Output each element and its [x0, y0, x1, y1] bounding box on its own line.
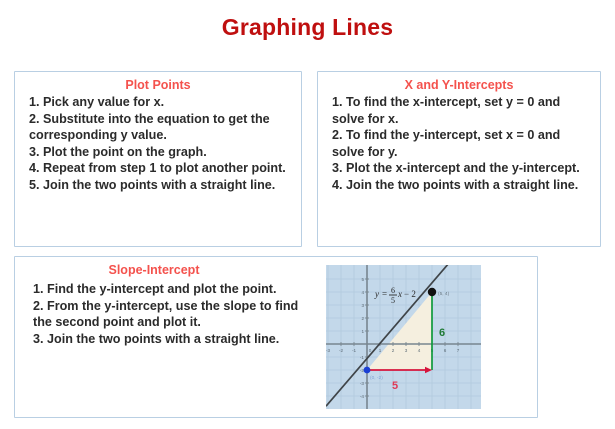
equation-constant: − 2	[404, 289, 416, 299]
y-tick-label: -3	[360, 381, 365, 386]
card-slope-intercept-steps: 1. Find the y-intercept and plot the poi…	[15, 281, 315, 347]
y-tick-label: 5	[361, 277, 364, 282]
list-item: 2. Substitute into the equation to get t…	[29, 111, 291, 144]
slope-intercept-graph: -3 -2 -1 0 1 2 3 4 5 6 7 5 4 3 2	[326, 265, 481, 409]
card-slope-intercept: Slope-Intercept 1. Find the y-intercept …	[14, 256, 538, 418]
list-item: 1. Find the y-intercept and plot the poi…	[33, 281, 311, 298]
point-y-intercept	[364, 367, 371, 374]
equation-y: y	[374, 289, 379, 299]
y-tick-label: 4	[361, 290, 364, 295]
card-intercepts: X and Y-Intercepts 1. To find the x-inte…	[317, 71, 601, 247]
rise-label: 6	[439, 327, 445, 339]
list-item: 1. To find the x-intercept, set y = 0 an…	[332, 94, 590, 127]
x-tick-label: 1	[379, 348, 382, 353]
equation-equals: =	[382, 289, 387, 299]
list-item: 5. Join the two points with a straight l…	[29, 177, 291, 194]
list-item: 3. Plot the point on the graph.	[29, 144, 291, 161]
y-tick-label: 2	[361, 316, 364, 321]
run-label: 5	[392, 380, 398, 392]
x-tick-label: -3	[326, 348, 330, 353]
page-title: Graphing Lines	[0, 14, 615, 41]
list-item: 2. To find the y-intercept, set x = 0 an…	[332, 127, 590, 160]
equation-denominator: 5	[391, 296, 395, 305]
card-intercepts-steps: 1. To find the x-intercept, set y = 0 an…	[318, 94, 600, 194]
card-plot-points-heading: Plot Points	[15, 78, 301, 92]
y-tick-label: 1	[361, 329, 364, 334]
x-tick-label: 6	[444, 348, 447, 353]
list-item: 1. Pick any value for x.	[29, 94, 291, 111]
list-item: 3. Plot the x-intercept and the y-interc…	[332, 160, 590, 177]
list-item: 4. Join the two points with a straight l…	[332, 177, 590, 194]
x-tick-label: 4	[418, 348, 421, 353]
point-second	[428, 288, 436, 296]
equation-x-term: x	[397, 289, 402, 299]
y-tick-label: 3	[361, 303, 364, 308]
x-tick-label: 3	[405, 348, 408, 353]
card-plot-points: Plot Points 1. Pick any value for x. 2. …	[14, 71, 302, 247]
card-intercepts-heading: X and Y-Intercepts	[318, 78, 600, 92]
x-tick-label: -2	[339, 348, 344, 353]
list-item: 4. Repeat from step 1 to plot another po…	[29, 160, 291, 177]
list-item: 3. Join the two points with a straight l…	[33, 331, 311, 348]
x-tick-label: 2	[392, 348, 395, 353]
point-y-intercept-label: (0, -2)	[370, 375, 383, 381]
equation-numerator: 6	[391, 286, 395, 295]
point-second-label: (5, 4)	[438, 291, 450, 297]
y-tick-label: -1	[360, 355, 365, 360]
list-item: 2. From the y-intercept, use the slope t…	[33, 298, 311, 331]
y-tick-label: -4	[360, 394, 365, 399]
card-plot-points-steps: 1. Pick any value for x. 2. Substitute i…	[15, 94, 301, 194]
x-tick-label: -1	[352, 348, 357, 353]
x-tick-label: 7	[457, 348, 460, 353]
